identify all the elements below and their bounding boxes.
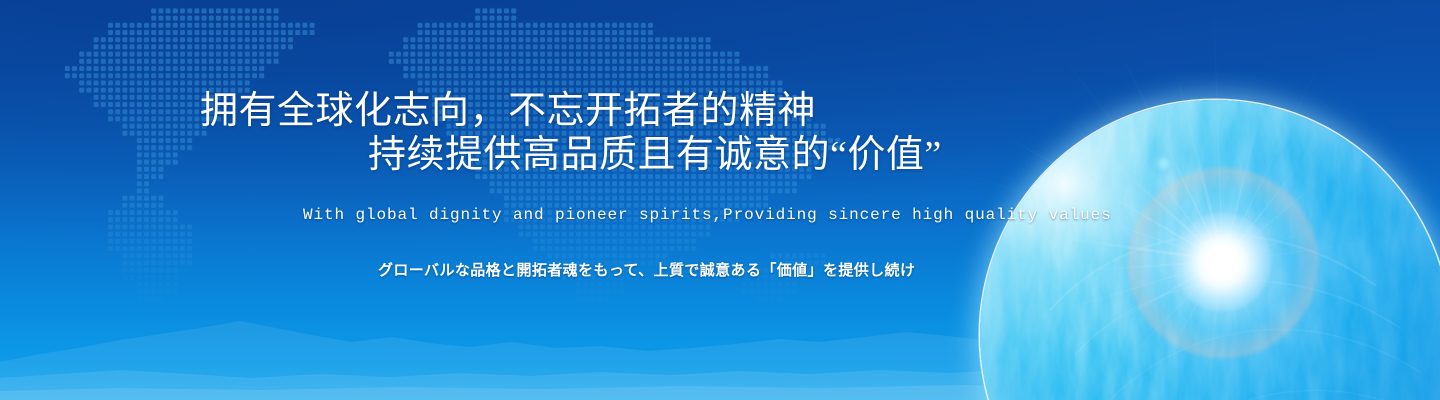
mountain-silhouette bbox=[0, 290, 1440, 400]
background-vignette bbox=[0, 0, 1440, 400]
globe-body bbox=[980, 100, 1440, 400]
globe-cloud-texture bbox=[980, 100, 1440, 400]
subtitle-english: With global dignity and pioneer spirits,… bbox=[303, 206, 1112, 224]
hero-banner: 拥有全球化志向，不忘开拓者的精神 持续提供高品质且有诚意的“价值” With g… bbox=[0, 0, 1440, 400]
sun-bloom bbox=[1092, 132, 1357, 397]
sun-core bbox=[1172, 212, 1272, 312]
headline-line-1: 拥有全球化志向，不忘开拓者的精神 bbox=[200, 92, 816, 130]
dotted-world-map bbox=[0, 0, 880, 324]
earth-globe bbox=[980, 100, 1440, 400]
globe-limb-glow bbox=[940, 60, 1440, 400]
globe-swirl-arcs bbox=[980, 100, 1440, 400]
lens-flare-orb bbox=[1151, 151, 1176, 176]
subtitle-japanese: グローバルな品格と開拓者魂をもって、上質で誠意ある「価値」を提供し続け bbox=[378, 259, 915, 280]
banner-copy: 拥有全球化志向，不忘开拓者的精神 持续提供高品质且有诚意的“价值” With g… bbox=[0, 0, 1440, 400]
sun-halo-ring bbox=[1128, 168, 1318, 358]
globe-rim-highlight bbox=[978, 98, 1440, 400]
headline-line-2: 持续提供高品质且有诚意的“价值” bbox=[368, 136, 942, 174]
